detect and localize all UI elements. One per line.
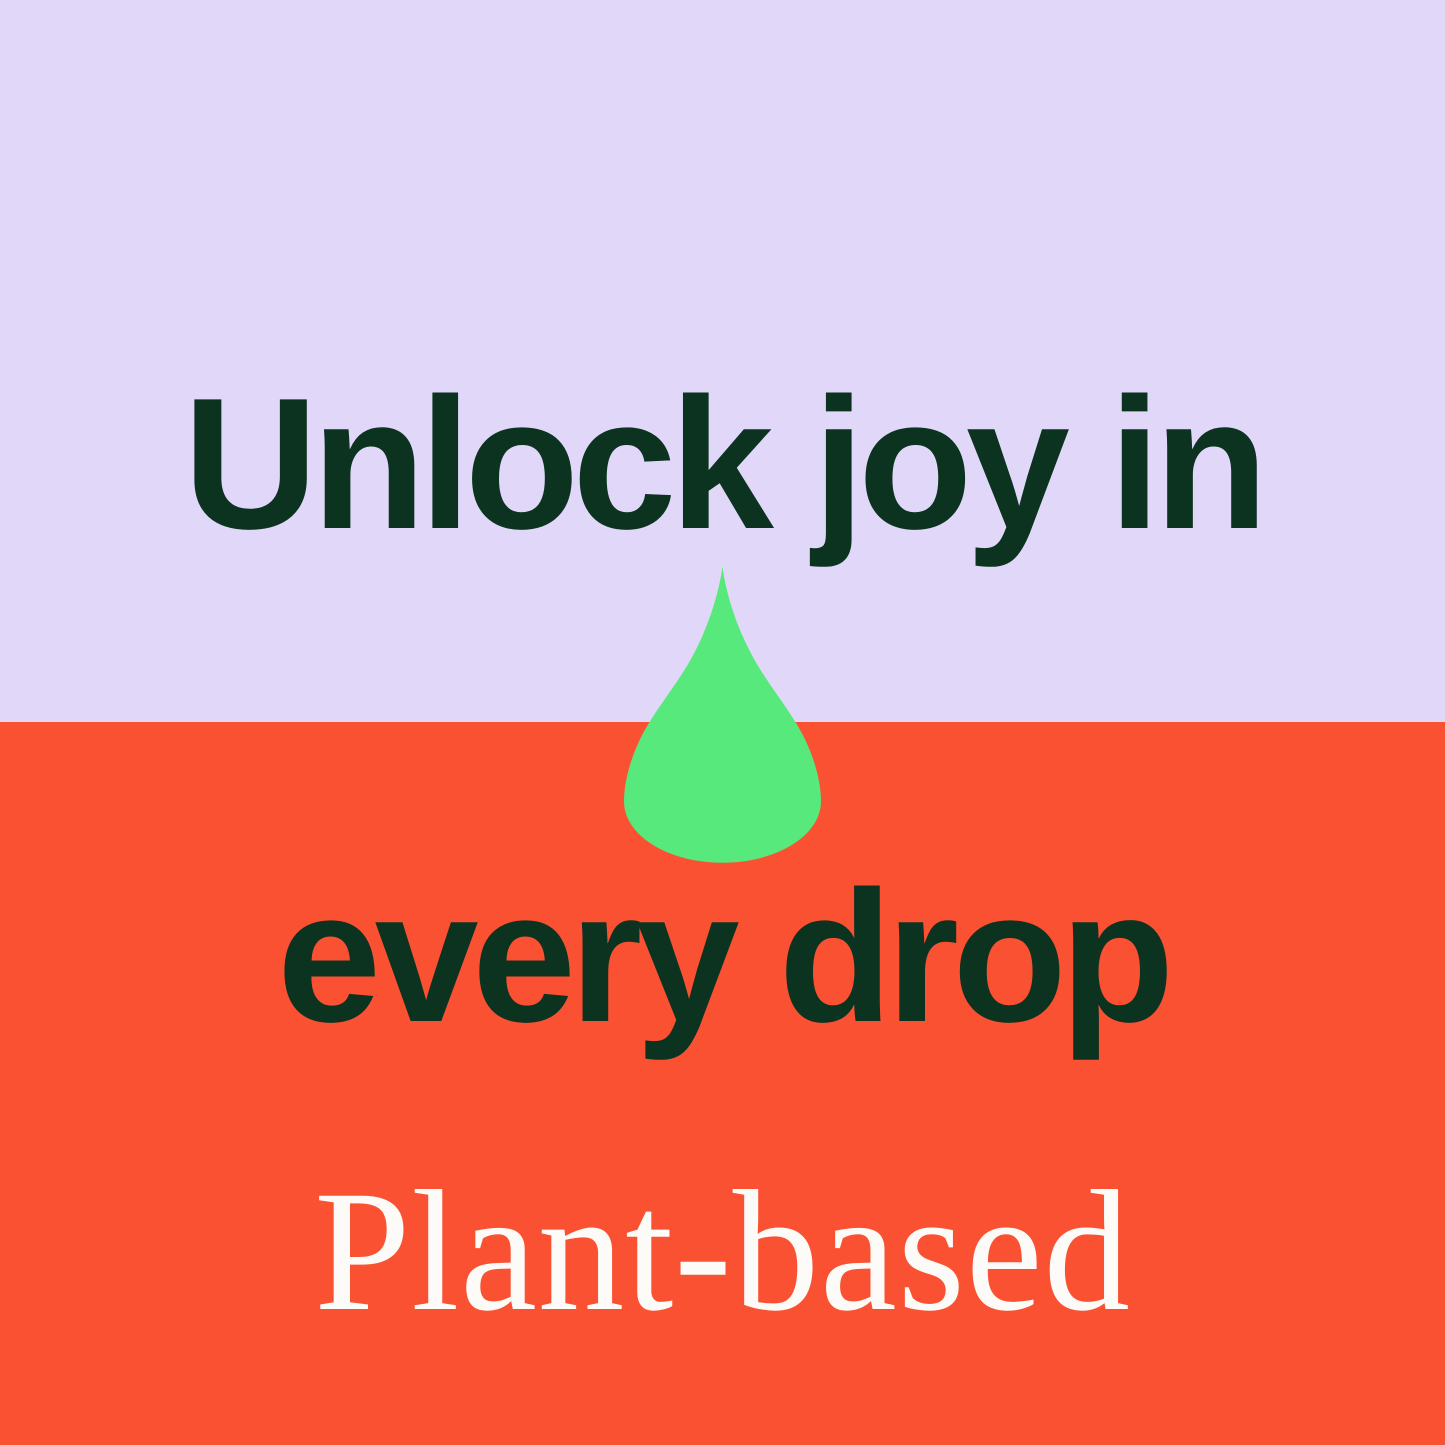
subheadline-line-1: Plant-based — [0, 1139, 1445, 1366]
droplet-shape — [624, 566, 821, 862]
headline-line-1: Unlock joy in — [0, 341, 1445, 588]
water-droplet-icon — [622, 566, 823, 863]
promo-poster: Unlock joy in every drop Plant-based eve… — [0, 0, 1445, 1445]
subheadline: Plant-based everyday bliss — [0, 912, 1445, 1445]
